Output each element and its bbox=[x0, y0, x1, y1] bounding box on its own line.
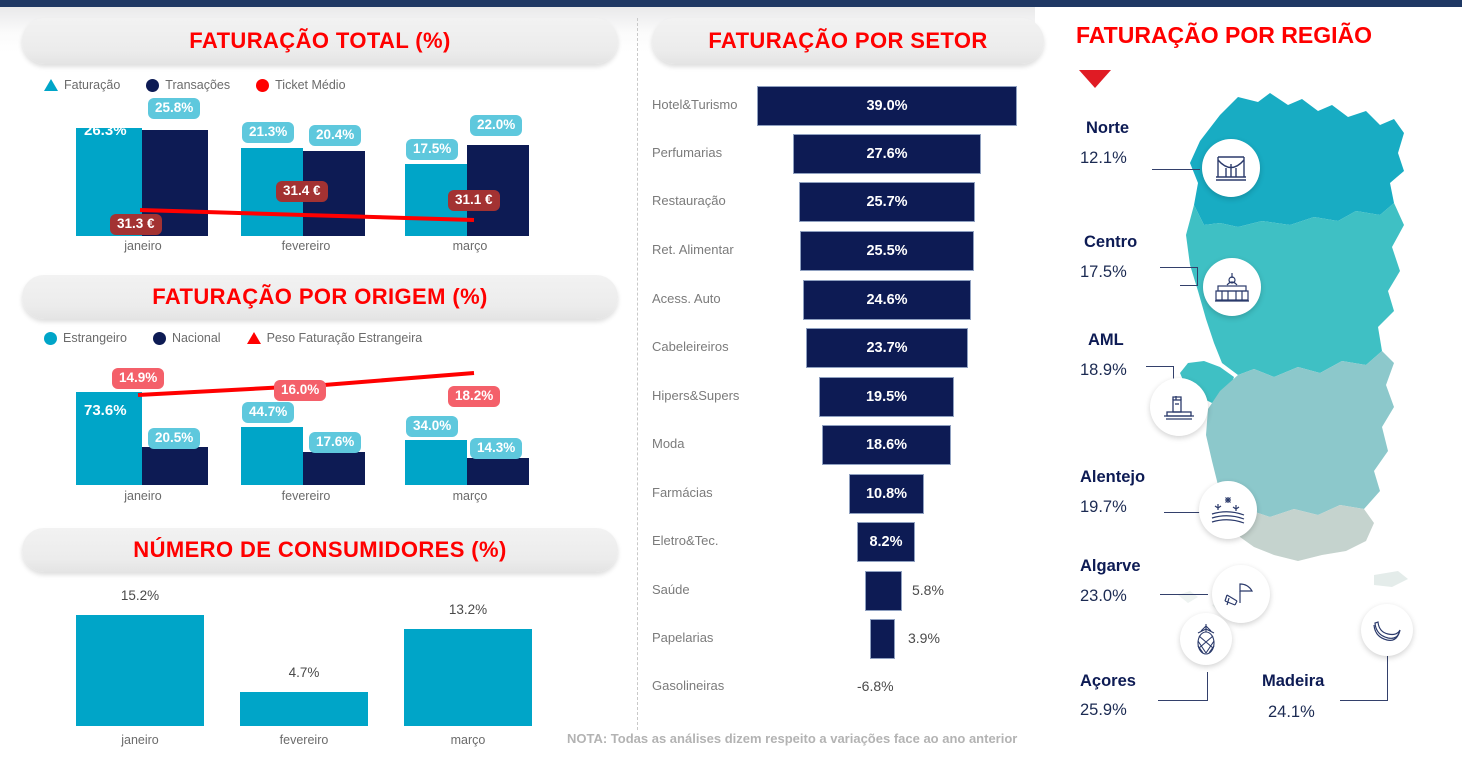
footer-note: NOTA: Todas as análises dizem respeito a… bbox=[567, 731, 1017, 746]
bar-consumidores-marco bbox=[404, 629, 532, 726]
region-value-algarve: 23.0% bbox=[1080, 587, 1127, 606]
bar-consumidores-fevereiro bbox=[240, 692, 368, 726]
sector-value: 19.5% bbox=[866, 389, 907, 405]
sector-label: Eletro&Tec. bbox=[652, 533, 718, 548]
sector-label: Cabeleireiros bbox=[652, 339, 729, 354]
region-label-acores: Açores bbox=[1080, 672, 1136, 691]
banana-icon bbox=[1361, 604, 1413, 656]
circle-teal-icon bbox=[44, 332, 57, 345]
sector-value: 5.8% bbox=[912, 582, 944, 598]
region-value-aml: 18.9% bbox=[1080, 361, 1127, 380]
chart-title-numero-consumidores: NÚMERO DE CONSUMIDORES (%) bbox=[22, 528, 618, 572]
plot-faturacao-origem: 73.6% 20.5% 44.7% 17.6% 34.0% 14.3% 14.9… bbox=[76, 360, 576, 485]
region-value-acores: 25.9% bbox=[1080, 701, 1127, 720]
region-value-madeira: 24.1% bbox=[1268, 703, 1315, 722]
legend-label: Peso Faturação Estrangeira bbox=[267, 331, 423, 345]
sector-label: Papelarias bbox=[652, 630, 713, 645]
legend-label: Ticket Médio bbox=[275, 78, 345, 92]
table-row: Eletro&Tec. 8.2% bbox=[652, 522, 1032, 562]
chart-title-text: FATURAÇÃO TOTAL (%) bbox=[189, 28, 450, 54]
circle-red-icon bbox=[256, 79, 269, 92]
circle-navy-icon bbox=[146, 79, 159, 92]
pineapple-icon bbox=[1180, 613, 1232, 665]
table-row: Hipers&Supers 19.5% bbox=[652, 377, 1032, 417]
sector-funnel: Hotel&Turismo 39.0% Perfumarias 27.6% Re… bbox=[652, 86, 1032, 711]
legend-item-peso-estrangeira: Peso Faturação Estrangeira bbox=[247, 331, 423, 345]
xlabel-janeiro-chart1: janeiro bbox=[78, 239, 208, 253]
region-value-alentejo: 19.7% bbox=[1080, 498, 1127, 517]
table-row: Perfumarias 27.6% bbox=[652, 134, 1032, 174]
sector-bar: 39.0% bbox=[757, 86, 1017, 126]
beach-icon bbox=[1212, 565, 1270, 623]
xlabel-janeiro-chart3: janeiro bbox=[76, 733, 204, 747]
value-label-consumidores-marco: 13.2% bbox=[404, 602, 532, 617]
value-label-peso-marco: 18.2% bbox=[448, 386, 500, 407]
sector-value: 25.7% bbox=[866, 194, 907, 210]
chart-title-faturacao-regiao: FATURAÇÃO POR REGIÃO bbox=[1076, 22, 1372, 49]
sector-bar: 19.5% bbox=[819, 377, 954, 417]
table-row: Acess. Auto 24.6% bbox=[652, 280, 1032, 320]
sector-value: 25.5% bbox=[866, 243, 907, 259]
sector-label: Moda bbox=[652, 436, 685, 451]
value-label-consumidores-janeiro: 15.2% bbox=[76, 588, 204, 603]
xlabel-janeiro-chart2: janeiro bbox=[78, 489, 208, 503]
table-row: Hotel&Turismo 39.0% bbox=[652, 86, 1032, 126]
legend-item-estrangeiro: Estrangeiro bbox=[44, 331, 127, 345]
table-row: Ret. Alimentar 25.5% bbox=[652, 231, 1032, 271]
value-label-peso-janeiro: 14.9% bbox=[112, 368, 164, 389]
region-label-algarve: Algarve bbox=[1080, 557, 1141, 576]
sector-value: 10.8% bbox=[866, 486, 907, 502]
sector-label: Farmácias bbox=[652, 485, 713, 500]
xlabel-marco-chart2: março bbox=[405, 489, 535, 503]
sector-bar: 18.6% bbox=[822, 425, 951, 465]
chart-title-text: FATURAÇÃO POR REGIÃO bbox=[1076, 22, 1372, 48]
legend-label: Faturação bbox=[64, 78, 120, 92]
leader-line-acores-vertical bbox=[1207, 672, 1208, 701]
sector-value: 23.7% bbox=[866, 340, 907, 356]
bridge-icon bbox=[1202, 139, 1260, 197]
sector-label: Hotel&Turismo bbox=[652, 97, 737, 112]
legend-faturacao-origem: Estrangeiro Nacional Peso Faturação Estr… bbox=[44, 331, 422, 345]
map-region-madeira bbox=[1374, 571, 1408, 587]
plot-numero-consumidores: 15.2% 4.7% 13.2% bbox=[76, 600, 576, 726]
sector-value: 39.0% bbox=[866, 98, 907, 114]
legend-item-faturacao: Faturação bbox=[44, 78, 120, 92]
sector-label: Gasolineiras bbox=[652, 678, 724, 693]
chart-title-text: FATURAÇÃO POR ORIGEM (%) bbox=[152, 284, 488, 310]
triangle-teal-icon bbox=[44, 79, 58, 91]
red-caret-icon bbox=[1079, 70, 1111, 88]
table-row: Moda 18.6% bbox=[652, 425, 1032, 465]
region-label-centro: Centro bbox=[1084, 233, 1137, 252]
legend-label: Estrangeiro bbox=[63, 331, 127, 345]
sector-label: Ret. Alimentar bbox=[652, 242, 734, 257]
xlabel-marco-chart1: março bbox=[405, 239, 535, 253]
sector-label: Restauração bbox=[652, 193, 726, 208]
leader-line-madeira-vertical bbox=[1387, 655, 1388, 700]
leader-line-centro-vertical bbox=[1197, 267, 1198, 285]
xlabel-fevereiro-chart1: fevereiro bbox=[241, 239, 371, 253]
chart-title-text: FATURAÇÃO POR SETOR bbox=[708, 28, 987, 54]
leader-line-alentejo bbox=[1164, 512, 1200, 513]
chart-title-faturacao-origem: FATURAÇÃO POR ORIGEM (%) bbox=[22, 275, 618, 319]
plot-faturacao-total: 26.3% 25.8% 21.3% 20.4% 17.5% 22.0% 31.3… bbox=[76, 106, 576, 236]
sector-bar bbox=[865, 571, 902, 611]
tower-icon bbox=[1150, 378, 1208, 436]
sector-label: Acess. Auto bbox=[652, 291, 721, 306]
table-row: Farmácias 10.8% bbox=[652, 474, 1032, 514]
sector-bar: 23.7% bbox=[806, 328, 968, 368]
sector-bar: 25.5% bbox=[800, 231, 974, 271]
sector-label: Saúde bbox=[652, 582, 690, 597]
leader-line-algarve bbox=[1160, 594, 1208, 595]
table-row: Saúde 5.8% bbox=[652, 571, 1032, 611]
sector-value: -6.8% bbox=[857, 678, 894, 694]
sector-value: 3.9% bbox=[908, 630, 940, 646]
chart-title-faturacao-total: FATURAÇÃO TOTAL (%) bbox=[22, 18, 618, 64]
sector-bar: 24.6% bbox=[803, 280, 971, 320]
leader-line-centro-lower bbox=[1180, 285, 1198, 286]
value-label-ticket-fevereiro: 31.4 € bbox=[276, 181, 328, 202]
column-divider bbox=[637, 18, 638, 730]
sector-bar bbox=[870, 619, 895, 659]
legend-label: Nacional bbox=[172, 331, 221, 345]
value-label-ticket-marco: 31.1 € bbox=[448, 190, 500, 211]
xlabel-fevereiro-chart3: fevereiro bbox=[240, 733, 368, 747]
table-row: Papelarias 3.9% bbox=[652, 619, 1032, 659]
legend-label: Transações bbox=[165, 78, 230, 92]
region-label-alentejo: Alentejo bbox=[1080, 468, 1145, 487]
sector-value: 8.2% bbox=[869, 534, 902, 550]
chart-title-text: NÚMERO DE CONSUMIDORES (%) bbox=[133, 537, 506, 563]
sector-label: Perfumarias bbox=[652, 145, 722, 160]
map-region-algarve bbox=[1238, 505, 1374, 561]
sector-label: Hipers&Supers bbox=[652, 388, 739, 403]
legend-item-transacoes: Transações bbox=[146, 78, 230, 92]
leader-line-madeira bbox=[1340, 700, 1388, 701]
legend-item-nacional: Nacional bbox=[153, 331, 221, 345]
leader-line-acores bbox=[1158, 700, 1208, 701]
sector-bar: 10.8% bbox=[849, 474, 924, 514]
sector-bar: 25.7% bbox=[799, 182, 975, 222]
table-row: Cabeleireiros 23.7% bbox=[652, 328, 1032, 368]
sector-bar: 27.6% bbox=[793, 134, 981, 174]
table-row: Restauração 25.7% bbox=[652, 182, 1032, 222]
table-row: Gasolineiras -6.8% bbox=[652, 667, 1032, 707]
legend-item-ticket-medio: Ticket Médio bbox=[256, 78, 345, 92]
value-label-ticket-janeiro: 31.3 € bbox=[110, 214, 162, 235]
monastery-icon bbox=[1203, 258, 1261, 316]
region-label-madeira: Madeira bbox=[1262, 672, 1324, 691]
bar-consumidores-janeiro bbox=[76, 615, 204, 726]
value-label-peso-fevereiro: 16.0% bbox=[274, 380, 326, 401]
legend-faturacao-total: Faturação Transações Ticket Médio bbox=[44, 78, 346, 92]
top-accent-bar bbox=[0, 0, 1462, 7]
sector-value: 27.6% bbox=[866, 146, 907, 162]
circle-navy-icon bbox=[153, 332, 166, 345]
leader-line-aml bbox=[1146, 366, 1174, 367]
value-label-consumidores-fevereiro: 4.7% bbox=[240, 665, 368, 680]
region-value-centro: 17.5% bbox=[1080, 263, 1127, 282]
sector-value: 18.6% bbox=[866, 437, 907, 453]
leader-line-norte bbox=[1152, 169, 1200, 170]
region-label-norte: Norte bbox=[1086, 119, 1129, 138]
region-value-norte: 12.1% bbox=[1080, 149, 1127, 168]
fields-icon bbox=[1199, 481, 1257, 539]
xlabel-fevereiro-chart2: fevereiro bbox=[241, 489, 371, 503]
xlabel-marco-chart3: março bbox=[404, 733, 532, 747]
sector-bar: 8.2% bbox=[857, 522, 915, 562]
chart-title-faturacao-setor: FATURAÇÃO POR SETOR bbox=[652, 18, 1044, 64]
sector-value: 24.6% bbox=[866, 292, 907, 308]
leader-line-centro bbox=[1160, 267, 1198, 268]
triangle-red-icon bbox=[247, 332, 261, 344]
region-label-aml: AML bbox=[1088, 331, 1124, 350]
